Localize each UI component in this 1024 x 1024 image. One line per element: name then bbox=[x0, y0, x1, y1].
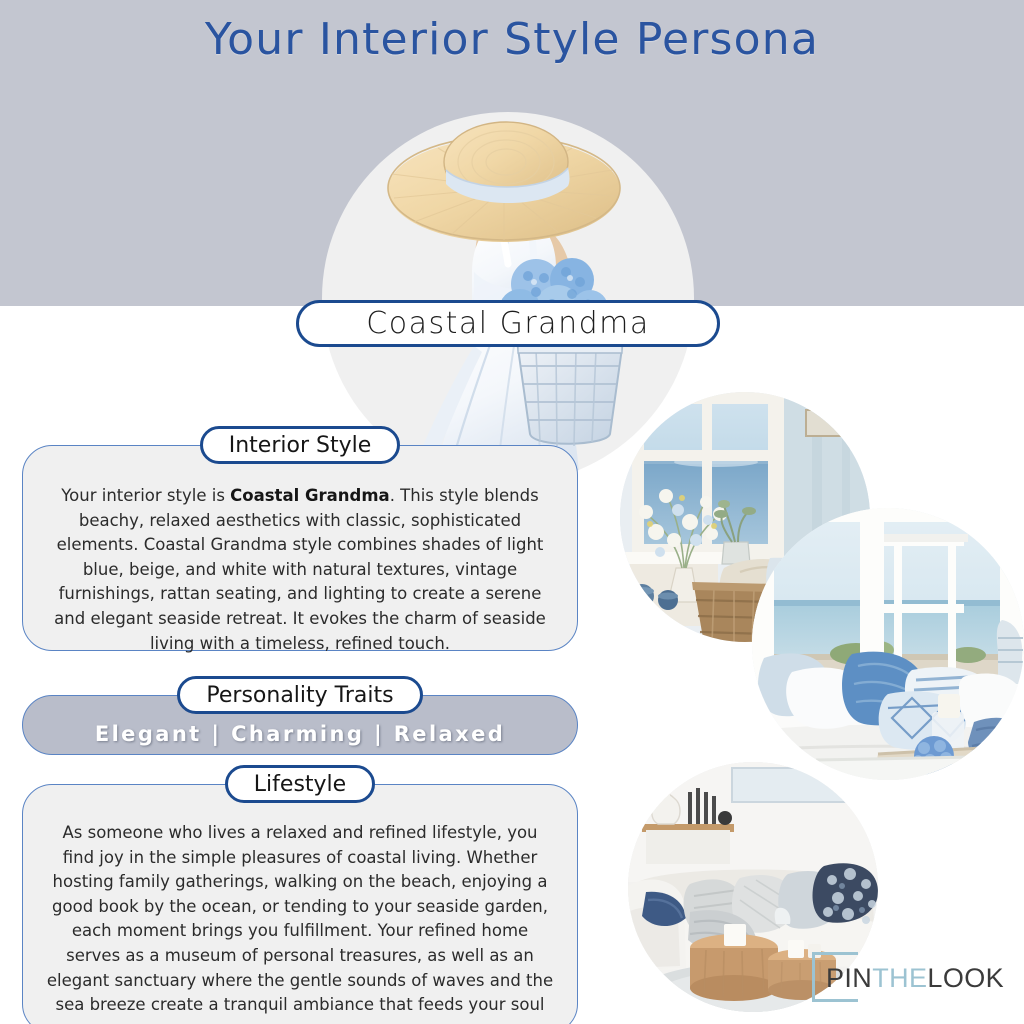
personality-traits-label: Personality Traits bbox=[177, 676, 422, 714]
interior-style-body-suffix: . This style blends beachy, relaxed aest… bbox=[54, 486, 546, 653]
interior-style-body: Your interior style is Coastal Grandma. … bbox=[45, 484, 555, 656]
interior-style-label: Interior Style bbox=[200, 426, 401, 464]
personality-traits-section: Personality Traits Elegant | Charming | … bbox=[22, 676, 578, 755]
lifestyle-section: Lifestyle As someone who lives a relaxed… bbox=[22, 765, 578, 1024]
interior-style-section: Interior Style Your interior style is Co… bbox=[22, 426, 578, 651]
interior-style-card: Your interior style is Coastal Grandma. … bbox=[22, 445, 578, 651]
lifestyle-label: Lifestyle bbox=[225, 765, 375, 803]
lifestyle-label-text: Lifestyle bbox=[254, 772, 346, 797]
pinthelook-logo: PINTHELOOK bbox=[812, 952, 1008, 1002]
interior-style-label-text: Interior Style bbox=[229, 433, 372, 458]
logo-part-look: LOOK bbox=[927, 963, 1004, 993]
white-sofa-blue-pillows-photo bbox=[752, 508, 1024, 780]
logo-part-the: THE bbox=[872, 963, 927, 993]
persona-name-badge: Coastal Grandma bbox=[296, 300, 720, 347]
persona-infographic: Your Interior Style Persona bbox=[0, 0, 1024, 1024]
logo-part-pin: PIN bbox=[826, 963, 872, 993]
logo-wordmark: PINTHELOOK bbox=[826, 963, 1004, 994]
interior-style-body-prefix: Your interior style is bbox=[61, 486, 230, 505]
page-title: Your Interior Style Persona bbox=[0, 14, 1024, 65]
lifestyle-body: As someone who lives a relaxed and refin… bbox=[45, 821, 555, 1018]
personality-traits-label-text: Personality Traits bbox=[206, 683, 393, 708]
interior-style-body-bold: Coastal Grandma bbox=[230, 486, 390, 505]
persona-name-text: Coastal Grandma bbox=[366, 306, 649, 341]
lifestyle-card: As someone who lives a relaxed and refin… bbox=[22, 784, 578, 1024]
personality-traits-text: Elegant | Charming | Relaxed bbox=[95, 722, 505, 746]
